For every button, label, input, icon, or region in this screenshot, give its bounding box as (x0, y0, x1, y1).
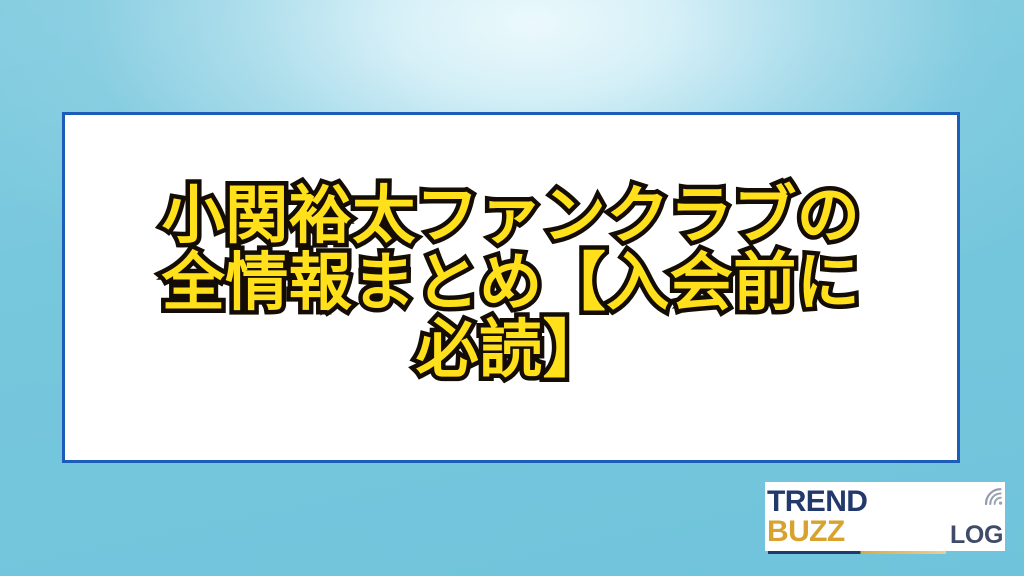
logo-word-buzz: BUZZ (767, 517, 845, 547)
brand-logo[interactable]: TREND BUZZ LOG (765, 482, 1005, 551)
logo-underline-bar (768, 551, 946, 554)
page-title: 小関裕太ファンクラブの 全情報まとめ【入会前に 必読】 (65, 184, 957, 391)
wifi-signal-icon (983, 483, 1009, 507)
title-line-1: 小関裕太ファンクラブの (89, 184, 933, 249)
logo-word-log: LOG (950, 523, 1003, 548)
title-line-2: 全情報まとめ【入会前に (89, 251, 933, 316)
title-line-3: 必読】 (89, 318, 933, 383)
title-card: 小関裕太ファンクラブの 全情報まとめ【入会前に 必読】 (62, 112, 960, 463)
logo-wordmark: TREND BUZZ (767, 487, 947, 547)
logo-inner: TREND BUZZ LOG (765, 487, 1005, 547)
logo-word-trend: TREND (767, 487, 867, 517)
